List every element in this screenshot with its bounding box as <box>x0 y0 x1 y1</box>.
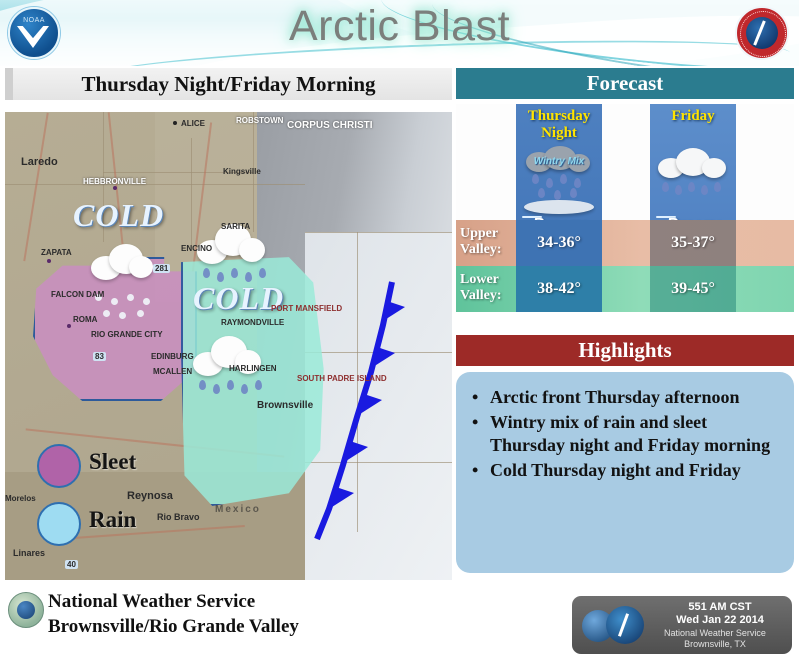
legend-label-sleet: Sleet <box>89 449 136 475</box>
map-city-label: Rio Bravo <box>157 512 200 522</box>
map-city-label: ZAPATA <box>41 248 72 257</box>
highlights-panel: Arctic front Thursday afternoon Wintry m… <box>456 372 794 573</box>
wintry-mix-label: Wintry Mix <box>516 156 602 167</box>
map-city-label: SOUTH PADRE ISLAND <box>297 374 387 383</box>
map-city-label: ROBSTOWN <box>236 116 283 125</box>
stamp-office-line2: Brownsville, TX <box>640 639 790 649</box>
rain-drop <box>259 268 266 278</box>
legend-swatch-rain <box>37 502 81 546</box>
map-city-label: ALICE <box>181 119 205 128</box>
legend-label-rain: Rain <box>89 507 136 533</box>
sleet-pellet <box>127 294 134 301</box>
stamp-date: Wed Jan 22 2014 <box>650 614 790 626</box>
map-highway-shield: 40 <box>65 560 78 569</box>
footer-agency-text: National Weather Service Brownsville/Rio… <box>48 589 299 639</box>
noaa-logo-icon: NOAA <box>8 7 60 59</box>
map-city-label: Brownsville <box>257 400 313 411</box>
highlight-item: Wintry mix of rain and sleet Thursday ni… <box>490 411 780 457</box>
forecast-value: 34-36° <box>516 234 602 252</box>
sleet-pellet <box>103 310 110 317</box>
highlight-item: Cold Thursday night and Friday <box>490 459 780 482</box>
rain-drop <box>213 384 220 394</box>
map-city-label: HARLINGEN <box>229 364 277 373</box>
row-label-lower-valley: Lower Valley: <box>460 272 518 304</box>
timestamp-badge: 551 AM CST Wed Jan 22 2014 National Weat… <box>572 596 792 654</box>
map-highway-shield: 83 <box>93 352 106 361</box>
map-country-label: Mexico <box>215 504 261 515</box>
map-county-line <box>5 184 305 185</box>
forecast-map[interactable]: COLD COLD <box>5 112 452 580</box>
map-panel-title: Thursday Night/Friday Morning <box>5 68 452 100</box>
footer-agency-line1: National Weather Service <box>48 589 299 614</box>
map-city-label: ENCINO <box>181 244 212 253</box>
map-city-label: RIO GRANDE CITY <box>91 330 163 339</box>
nws-footer-logo-icon <box>8 592 44 628</box>
map-city-label: Kingsville <box>223 167 261 176</box>
forecast-column-title: Friday <box>650 108 736 125</box>
sleet-cloud-icon <box>87 240 157 286</box>
highlights-header-text: Highlights <box>578 338 671 363</box>
rain-cloud-icon <box>191 334 263 380</box>
map-county-line <box>305 232 452 233</box>
map-city-label: MCALLEN <box>153 367 192 376</box>
stamp-office-line1: National Weather Service <box>640 628 790 638</box>
stamp-nws-globe-icon <box>606 606 644 644</box>
map-county-line <box>191 138 192 248</box>
rain-drop <box>203 268 210 278</box>
map-city-label: ROMA <box>73 315 97 324</box>
rain-drop <box>255 380 262 390</box>
sleet-pellet <box>143 298 150 305</box>
sleet-pellet <box>137 310 144 317</box>
rain-drop <box>199 380 206 390</box>
map-highway-shield: 281 <box>153 264 170 273</box>
map-city-label: EDINBURG <box>151 352 194 361</box>
forecast-value: 38-42° <box>516 280 602 298</box>
legend-swatch-sleet <box>37 444 81 488</box>
forecast-table: Thursday Night Wintry Mix Breezy Friday <box>456 104 794 312</box>
forecast-header: Forecast <box>456 68 794 99</box>
highlight-item: Arctic front Thursday afternoon <box>490 386 780 409</box>
sleet-pellet <box>119 312 126 319</box>
map-city-label: HEBBRONVILLE <box>83 177 146 186</box>
header-banner: Arctic Blast NOAA <box>0 0 799 66</box>
noaa-bird-shape <box>17 26 49 48</box>
wintry-mix-icon: Wintry Mix Breezy <box>516 144 602 232</box>
forecast-row-upper-valley: Upper Valley: 34-36° 35-37° <box>456 220 794 266</box>
stamp-time: 551 AM CST <box>650 601 790 613</box>
page-title: Arctic Blast <box>0 2 799 51</box>
rain-drop <box>227 380 234 390</box>
map-city-label: Morelos <box>5 494 36 503</box>
rain-drop <box>217 272 224 282</box>
sleet-pellet <box>111 298 118 305</box>
map-city-label: Reynosa <box>127 490 173 502</box>
map-city-label: FALCON DAM <box>51 290 104 299</box>
map-city-label: Linares <box>13 548 45 558</box>
rain-cloud-icon: Breezy <box>650 144 736 232</box>
row-label-upper-valley: Upper Valley: <box>460 226 518 258</box>
forecast-column-title: Thursday Night <box>516 108 602 142</box>
forecast-row-lower-valley: Lower Valley: 38-42° 39-45° <box>456 266 794 312</box>
noaa-logo-text: NOAA <box>10 17 58 24</box>
rain-drop <box>231 268 238 278</box>
map-city-label: CORPUS CHRISTI <box>287 120 373 131</box>
map-city-label: Laredo <box>21 156 58 168</box>
highlights-list: Arctic front Thursday afternoon Wintry m… <box>456 372 794 482</box>
map-city-label: SARITA <box>221 222 250 231</box>
cold-label: COLD <box>73 197 164 234</box>
highlights-header: Highlights <box>456 335 794 366</box>
map-city-label: PORT MANSFIELD <box>271 304 342 313</box>
map-city-label: RAYMONDVILLE <box>221 318 284 327</box>
map-title-accent <box>5 68 13 100</box>
forecast-header-text: Forecast <box>587 71 664 96</box>
footer-globe-shape <box>17 601 35 619</box>
map-title-text: Thursday Night/Friday Morning <box>81 72 375 97</box>
forecast-value: 35-37° <box>650 234 736 252</box>
rain-drop <box>245 272 252 282</box>
rain-drop <box>241 384 248 394</box>
forecast-value: 39-45° <box>650 280 736 298</box>
nws-seal-icon <box>735 6 789 60</box>
footer-agency-line2: Brownsville/Rio Grande Valley <box>48 614 299 639</box>
